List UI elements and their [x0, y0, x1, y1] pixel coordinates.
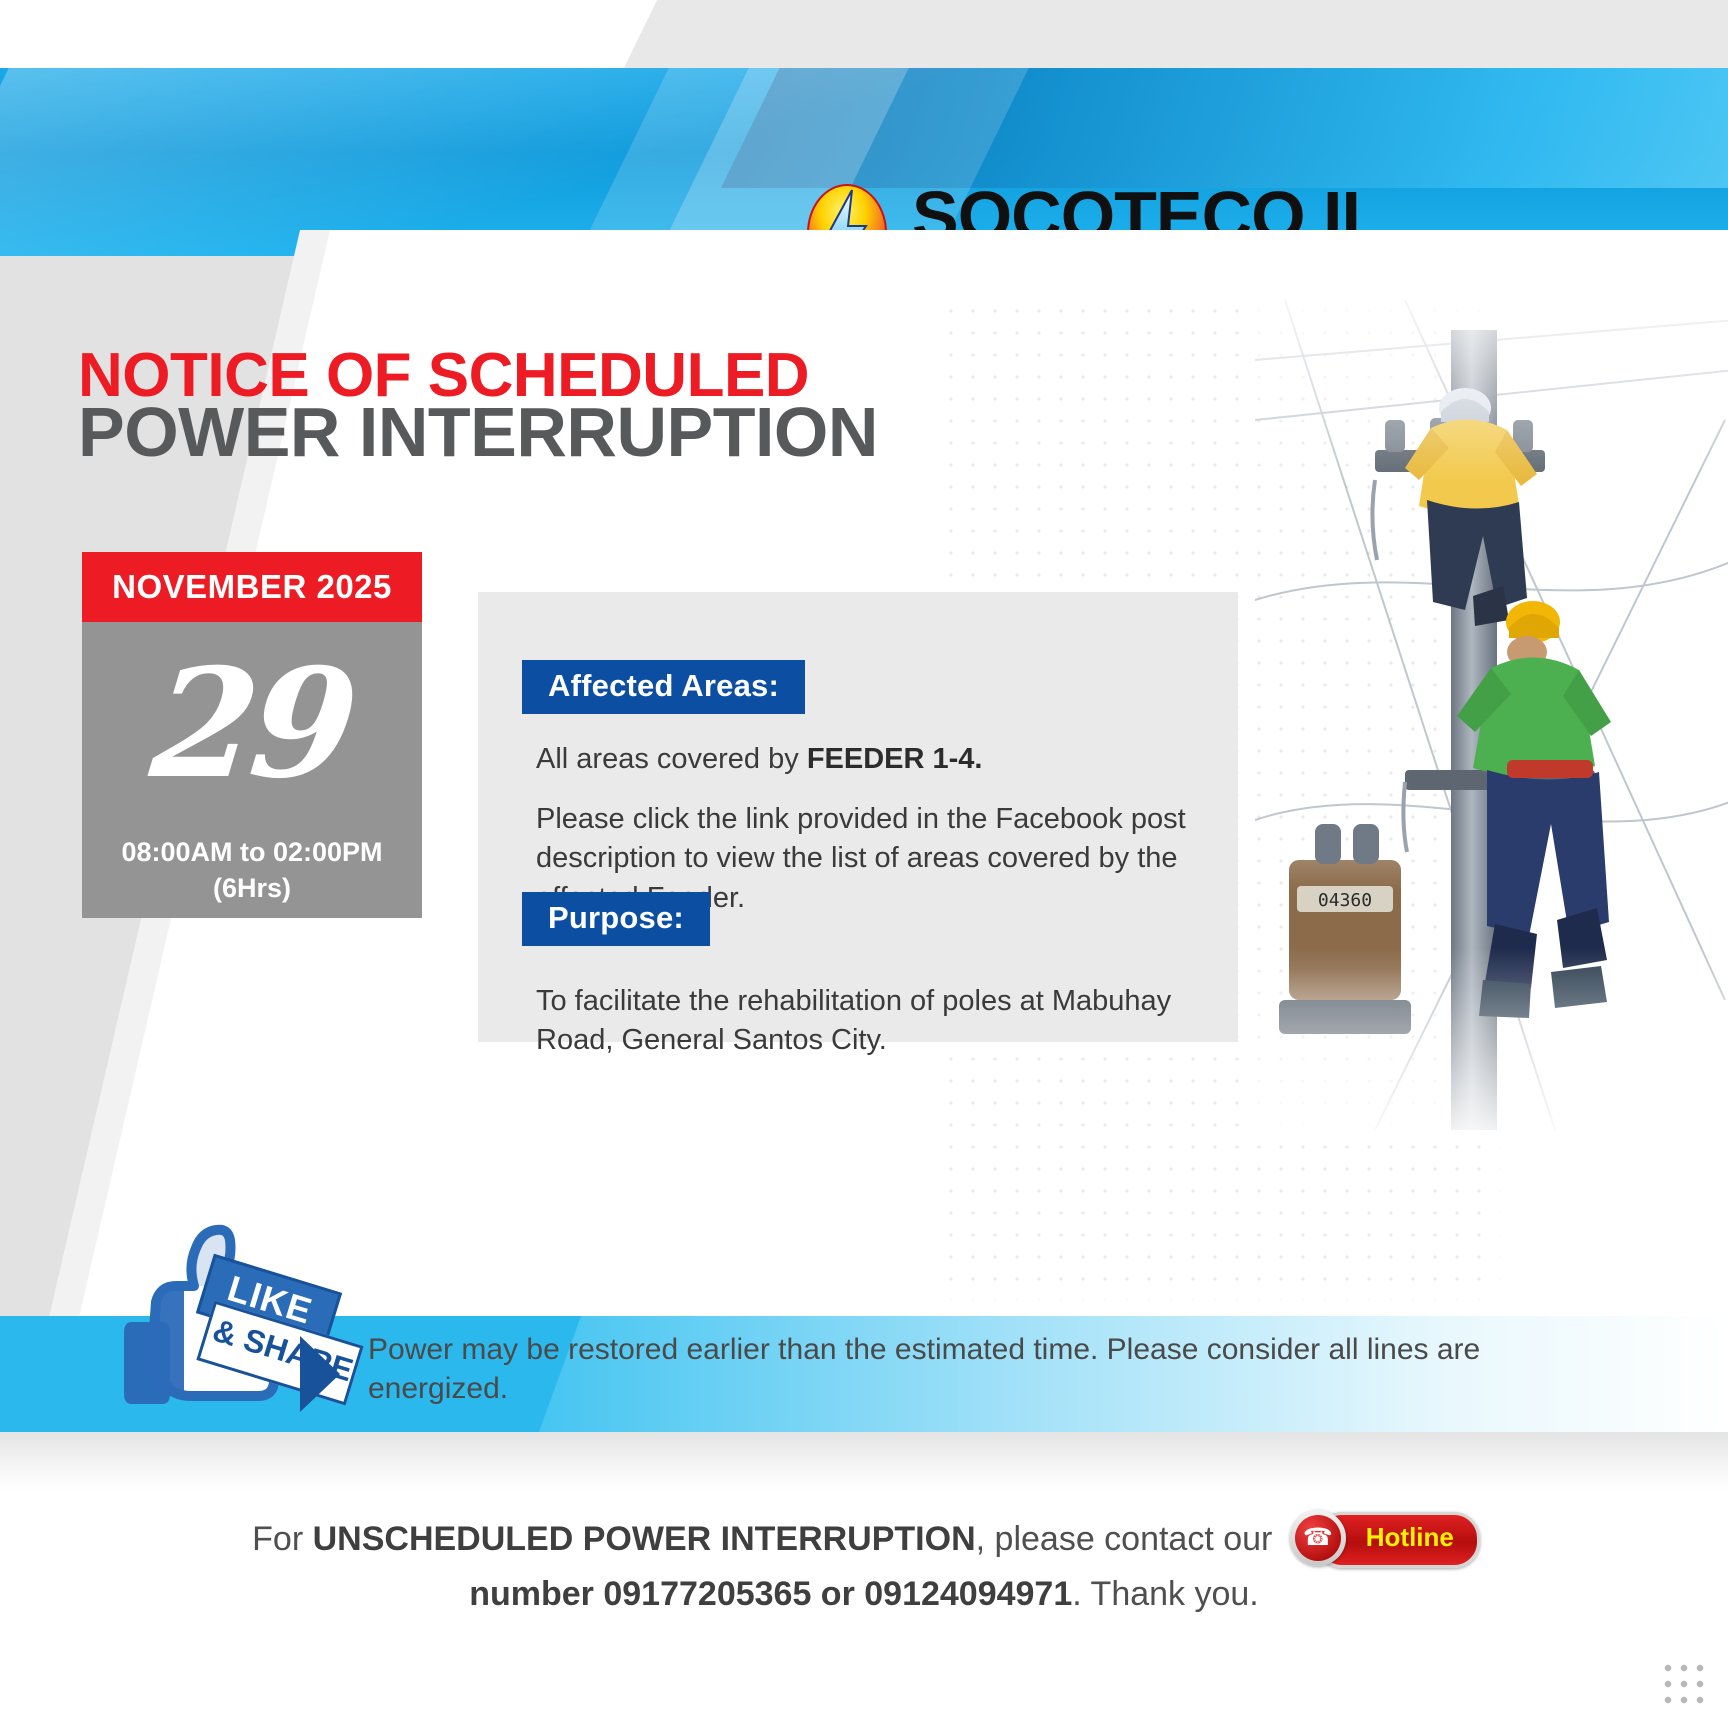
page-title-line2: POWER INTERRUPTION	[78, 392, 878, 472]
hotline-label: Hotline	[1352, 1520, 1468, 1555]
duration: (6Hrs)	[82, 870, 422, 906]
top-white-strip	[0, 0, 1728, 68]
affected-areas-chip-wrap: Affected Areas:	[522, 660, 805, 714]
affected-prefix: All areas covered by	[536, 743, 807, 775]
phone-ringing-icon: ☎	[1290, 1510, 1346, 1566]
date-card: NOVEMBER 2025 29 08:00AM to 02:00PM (6Hr…	[82, 552, 422, 918]
lineman-photo: 04360	[1255, 300, 1728, 1130]
purpose-label: Purpose:	[522, 892, 710, 946]
purpose-value: To facilitate the rehabilitation of pole…	[536, 982, 1226, 1061]
footer-line-2: number 09177205365 or 09124094971. Thank…	[0, 1572, 1728, 1618]
time-range: 08:00AM to 02:00PM	[82, 834, 422, 870]
footer-bold-numbers: number 09177205365 or 09124094971	[469, 1575, 1072, 1613]
footer-prefix: For	[252, 1520, 312, 1558]
date-day-number: 29	[73, 634, 432, 814]
bottom-white-strip	[0, 1650, 1728, 1728]
power-interruption-notice-poster: SOCOTECO II South Cotabato II Electric C…	[0, 0, 1728, 1728]
affected-areas-value: All areas covered by FEEDER 1-4.	[536, 740, 1216, 779]
date-month-year: NOVEMBER 2025	[82, 552, 422, 622]
like-and-share-badge[interactable]: LIKE & SHARE	[110, 1210, 330, 1425]
footer: For UNSCHEDULED POWER INTERRUPTION, plea…	[0, 1510, 1728, 1650]
footer-bold-unscheduled: UNSCHEDULED POWER INTERRUPTION	[313, 1520, 976, 1558]
corner-dot-decor	[1660, 1660, 1706, 1706]
purpose-chip-wrap: Purpose:	[522, 892, 710, 946]
page-header: SOCOTECO II South Cotabato II Electric C…	[0, 68, 1728, 256]
hotline-badge[interactable]: Hotline ☎	[1290, 1510, 1476, 1566]
date-time-block: 08:00AM to 02:00PM (6Hrs)	[82, 834, 422, 907]
note-arrow-tip	[300, 1336, 340, 1412]
affected-feeder: FEEDER 1-4.	[807, 743, 983, 775]
phone-glyph: ☎	[1295, 1515, 1341, 1561]
footer-line-1: For UNSCHEDULED POWER INTERRUPTION, plea…	[0, 1510, 1728, 1572]
info-panel: Affected Areas: All areas covered by FEE…	[478, 592, 1238, 1042]
footer-divider-strip	[0, 1432, 1728, 1492]
footer-mid: , please contact our	[976, 1520, 1282, 1558]
restoration-note: Power may be restored earlier than the e…	[368, 1330, 1628, 1408]
footer-suffix: . Thank you.	[1072, 1575, 1259, 1613]
affected-areas-label: Affected Areas:	[522, 660, 805, 714]
